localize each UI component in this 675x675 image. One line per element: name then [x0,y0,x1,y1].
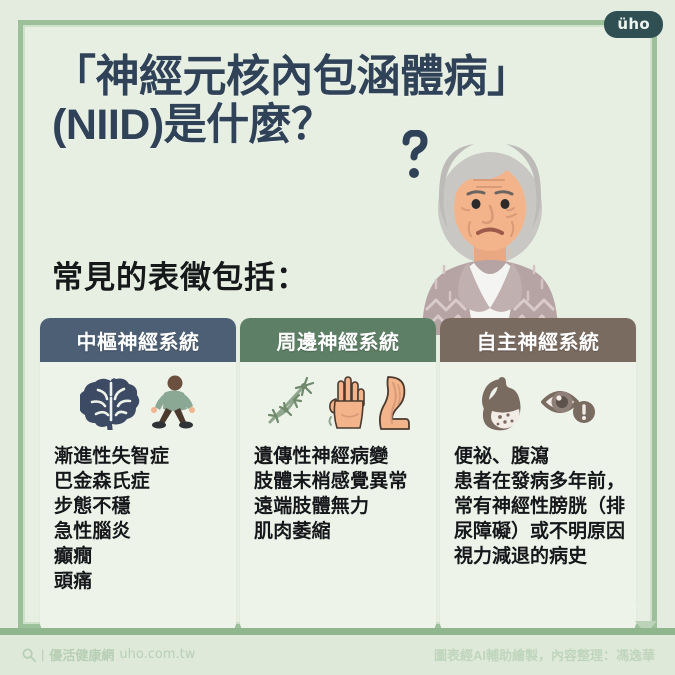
column-items-autonomic: 便祕、腹瀉 患者在發病多年前，常有神經性膀胱（排尿障礙）或不明原因視力減退的病史 [440,440,636,579]
elderly-woman-illustration [392,130,582,335]
column-icons-autonomic [440,362,636,440]
list-item: 肌肉萎縮 [254,519,428,544]
column-central-nervous-system: 中樞神經系統 [40,318,236,633]
list-item: 步態不穩 [54,494,228,519]
list-item: 肢體末梢感覺異常 [254,469,428,494]
column-peripheral-nervous-system: 周邊神經系統 [240,318,436,633]
column-header-autonomic: 自主神經系統 [440,318,636,362]
footer-site-url[interactable]: uho.com.tw [119,647,195,662]
section-subtitle: 常見的表徵包括： [52,252,308,297]
brain-icon [80,376,142,430]
page-title: 「神經元核內包涵體病」 (NIID)是什麼？ [52,52,531,149]
column-autonomic-nervous-system: 自主神經系統 [440,318,636,633]
footer-separator: | [41,647,44,662]
hand-icon [324,375,366,431]
nerve-fiber-icon [264,376,316,430]
footer-site-name: 優活健康網 [49,645,114,664]
list-item: 巴金森氏症 [54,469,228,494]
leg-icon [374,375,412,431]
footer-branding[interactable]: | 優活健康網 uho.com.tw [22,645,195,664]
list-item: 漸進性失智症 [54,444,228,469]
list-item: 便祕、腹瀉 [454,444,628,469]
stomach-icon [478,375,532,431]
search-icon [22,648,36,662]
column-items-central: 漸進性失智症 巴金森氏症 步態不穩 急性腦炎 癲癇 頭痛 [40,440,236,604]
list-item: 遠端肢體無力 [254,494,428,519]
column-icons-central [40,362,236,440]
column-header-peripheral: 周邊神經系統 [240,318,436,362]
column-icons-peripheral [240,362,436,440]
infographic-poster: üho 「神經元核內包涵體病」 (NIID)是什麼？ 常見的表徵包括： [0,0,675,675]
list-item: 頭痛 [54,569,228,594]
footer-divider-rule [0,628,675,635]
symptom-columns: 中樞神經系統 [40,318,636,633]
list-item: 患者在發病多年前，常有神經性膀胱（排尿障礙）或不明原因視力減退的病史 [454,469,628,569]
column-header-central: 中樞神經系統 [40,318,236,362]
uho-logo-badge[interactable]: üho [604,11,663,38]
footer-credit: 圖表經AI輔助繪製，內容整理：馮逸華 [434,645,655,664]
list-item: 急性腦炎 [54,519,228,544]
title-line-1: 「神經元核內包涵體病」 [52,52,531,101]
eye-alert-icon [540,380,598,426]
column-items-peripheral: 遺傳性神經病變 肢體末梢感覺異常 遠端肢體無力 肌肉萎縮 [240,440,436,554]
list-item: 癲癇 [54,544,228,569]
walking-person-icon [150,375,196,431]
list-item: 遺傳性神經病變 [254,444,428,469]
title-line-2: (NIID)是什麼？ [52,101,531,149]
